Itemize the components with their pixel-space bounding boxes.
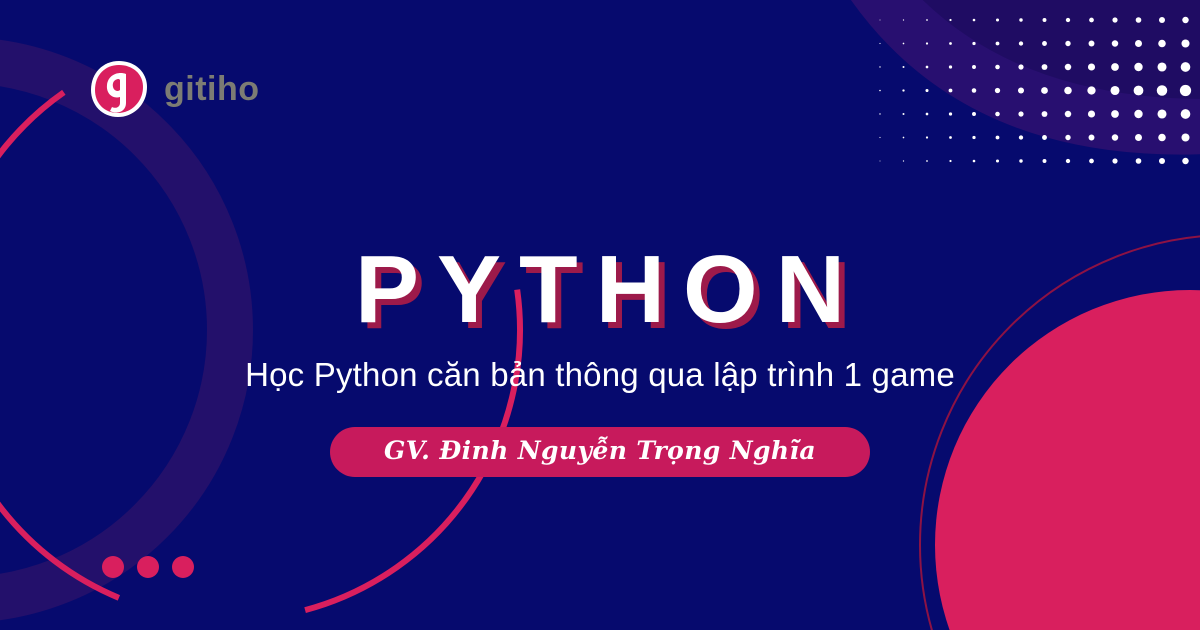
- halftone-dot-grid: [879, 17, 1200, 165]
- page-title: PYTHON: [0, 242, 1200, 338]
- course-banner: gitiho PYTHON Học Python căn bản thông q…: [0, 0, 1200, 630]
- instructor-badge-wrap: GV. Đinh Nguyễn Trọng Nghĩa: [0, 427, 1200, 477]
- purple-swoosh-top-right-2: [830, 0, 1200, 99]
- brand-logo[interactable]: gitiho: [88, 58, 260, 120]
- purple-swoosh-top-right: [790, 0, 1200, 155]
- page-subtitle: Học Python căn bản thông qua lập trình 1…: [0, 355, 1200, 395]
- page-title-text: PYTHON: [337, 242, 863, 338]
- three-pink-dots: [102, 556, 194, 578]
- gitiho-g-logo-icon: [88, 58, 150, 120]
- instructor-badge: GV. Đinh Nguyễn Trọng Nghĩa: [330, 427, 870, 477]
- brand-name: gitiho: [164, 72, 260, 106]
